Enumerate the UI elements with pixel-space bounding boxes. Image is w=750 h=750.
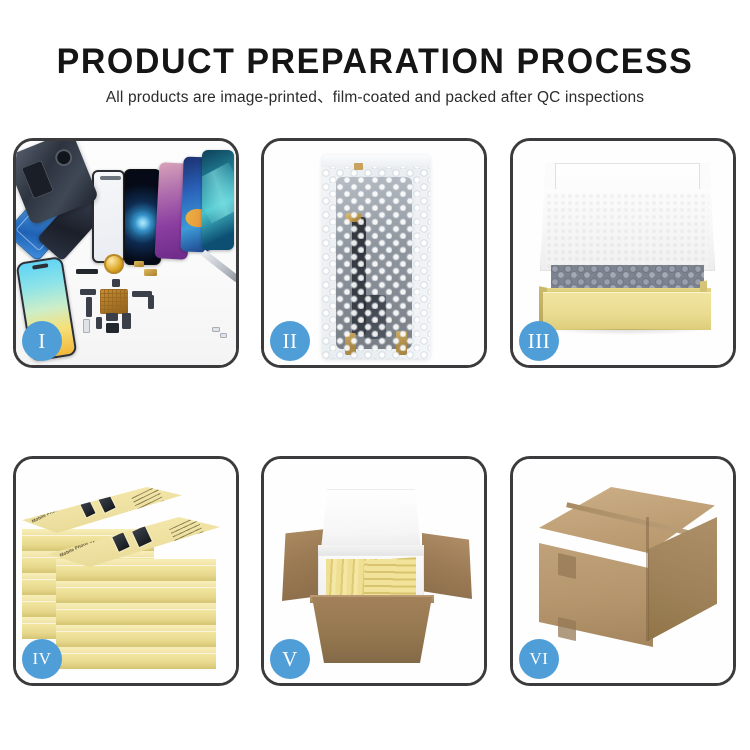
bubble-wrap-bag-icon (322, 155, 430, 359)
stacked-box-edge (56, 603, 216, 625)
component-part (83, 319, 90, 333)
component-part (148, 295, 154, 309)
component-part (86, 297, 92, 317)
component-part (96, 317, 102, 329)
phone-display-teal-icon (202, 150, 234, 250)
foam-case-lid-icon (321, 489, 421, 551)
box-spec-lines (131, 486, 164, 514)
process-step-panel-4: Mobile Phone Spare Parts Mobile Phone Sp… (13, 456, 239, 686)
carton-tape-patch (558, 617, 576, 641)
step-badge-1: I (22, 321, 62, 361)
drop-shadow (549, 329, 707, 335)
component-part (212, 327, 220, 332)
bubble-texture (322, 155, 430, 359)
yellow-boxes-inside (364, 557, 416, 599)
component-part (106, 323, 119, 333)
carton-vertical-edge (646, 517, 649, 641)
component-part (134, 261, 144, 267)
stacked-box-edge (56, 625, 216, 647)
tape-tab (354, 163, 363, 170)
component-part (112, 279, 120, 287)
component-part (80, 289, 96, 295)
box-spec-lines (169, 517, 205, 548)
stacked-box-edge (56, 647, 216, 669)
speaker-coil-icon (104, 254, 124, 274)
box-window (97, 493, 117, 514)
component-part (76, 269, 98, 274)
bag-seal (322, 155, 430, 167)
inner-box-front-icon (543, 292, 711, 330)
process-step-panel-2: II (261, 138, 487, 368)
gold-chip-icon (100, 289, 128, 314)
tempered-glass-icon (92, 170, 125, 263)
process-step-panel-3: III (510, 138, 736, 368)
stacked-box-edge (56, 581, 216, 603)
component-part (144, 269, 157, 276)
foam-sheet (546, 193, 709, 269)
box-label-text: Mobile Phone Spare Parts (31, 493, 86, 523)
carton-front-icon (312, 597, 432, 663)
component-part (106, 313, 118, 321)
component-part (220, 333, 227, 338)
step-badge-5: V (270, 639, 310, 679)
page-title: PRODUCT PREPARATION PROCESS (11, 43, 739, 81)
step-badge-6: VI (519, 639, 559, 679)
box-window (79, 499, 97, 519)
step-badge-2: II (270, 321, 310, 361)
step-badge-4: IV (22, 639, 62, 679)
header: PRODUCT PREPARATION PROCESS All products… (0, 0, 750, 128)
page-subtitle: All products are image-printed、film-coat… (0, 88, 750, 108)
carton-tape-patch (558, 553, 576, 579)
process-step-grid: I II (13, 138, 737, 690)
carton-flap-right (422, 533, 472, 599)
component-part (122, 313, 131, 329)
step-badge-3: III (519, 321, 559, 361)
process-step-panel-1: I (13, 138, 239, 368)
process-step-panel-6: VI (510, 456, 736, 686)
product-preparation-infographic: PRODUCT PREPARATION PROCESS All products… (0, 0, 750, 750)
process-step-panel-5: V (261, 456, 487, 686)
